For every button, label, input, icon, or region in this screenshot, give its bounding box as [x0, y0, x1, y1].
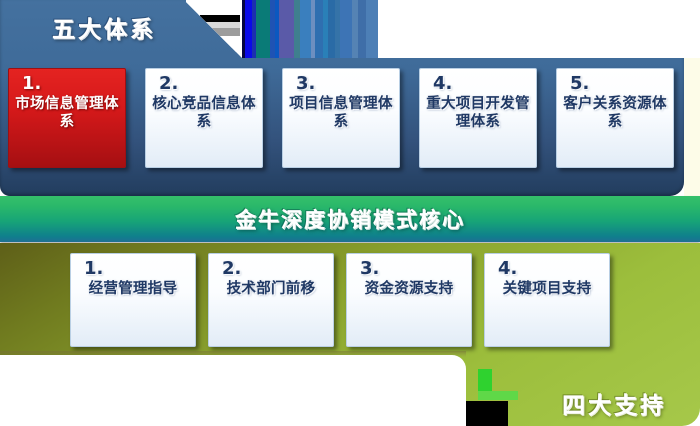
artifact-stripe-2 — [245, 0, 252, 58]
card-number: 5. — [570, 75, 589, 94]
card-number: 4. — [433, 75, 452, 94]
artifact-stripe-4 — [256, 0, 270, 58]
card-label: 市场信息管理体系 — [9, 96, 125, 131]
card-label: 资金资源支持 — [360, 281, 459, 299]
artifact-green-bar — [478, 391, 518, 400]
artifact-stripe-13 — [328, 0, 335, 58]
core-model-title: 金牛深度协销模式核心 — [235, 204, 465, 234]
olive-panel-cutout-left — [0, 355, 240, 426]
five-systems-card-4[interactable]: 4.重大项目开发管理体系 — [419, 68, 537, 168]
panel-right-edge-strip — [684, 48, 700, 196]
artifact-black-block — [466, 401, 508, 426]
card-label: 客户关系资源体系 — [557, 96, 673, 131]
five-systems-card-3[interactable]: 3.项目信息管理体系 — [282, 68, 400, 168]
five-systems-card-5[interactable]: 5.客户关系资源体系 — [556, 68, 674, 168]
four-supports-card-3[interactable]: 3.资金资源支持 — [346, 253, 472, 347]
card-number: 4. — [498, 260, 517, 279]
four-supports-card-2[interactable]: 2.技术部门前移 — [208, 253, 334, 347]
artifact-stripe-17 — [358, 0, 366, 58]
card-number: 3. — [296, 75, 315, 94]
artifact-bar-1 — [200, 15, 240, 22]
card-number: 1. — [22, 75, 41, 94]
card-number: 1. — [84, 260, 103, 279]
five-systems-card-1[interactable]: 1.市场信息管理体系 — [8, 68, 126, 168]
four-supports-title: 四大支持 — [562, 386, 666, 420]
artifact-stripe-15 — [340, 0, 352, 58]
four-supports-card-1[interactable]: 1.经营管理指导 — [70, 253, 196, 347]
card-label: 重大项目开发管理体系 — [420, 96, 536, 131]
four-supports-panel: 1.经营管理指导2.技术部门前移3.资金资源支持4.关键项目支持 四大支持 — [0, 243, 700, 426]
five-systems-title: 五大体系 — [52, 10, 156, 44]
artifact-stripe-9 — [300, 0, 311, 58]
core-model-banner: 金牛深度协销模式核心 — [0, 196, 700, 242]
card-label: 经营管理指导 — [84, 281, 183, 299]
four-supports-card-4[interactable]: 4.关键项目支持 — [484, 253, 610, 347]
card-number: 3. — [360, 260, 379, 279]
five-systems-card-2[interactable]: 2.核心竞品信息体系 — [145, 68, 263, 168]
card-label: 核心竞品信息体系 — [146, 96, 262, 131]
card-number: 2. — [159, 75, 178, 94]
artifact-stripe-7 — [279, 0, 294, 58]
artifact-stripe-18 — [366, 0, 378, 58]
artifact-stripe-11 — [315, 0, 323, 58]
card-number: 2. — [222, 260, 241, 279]
card-label: 技术部门前移 — [222, 281, 321, 299]
slide-canvas: 五大体系 1.市场信息管理体系2.核心竞品信息体系3.项目信息管理体系4.重大项… — [0, 0, 700, 426]
card-label: 关键项目支持 — [498, 281, 597, 299]
card-label: 项目信息管理体系 — [283, 96, 399, 131]
